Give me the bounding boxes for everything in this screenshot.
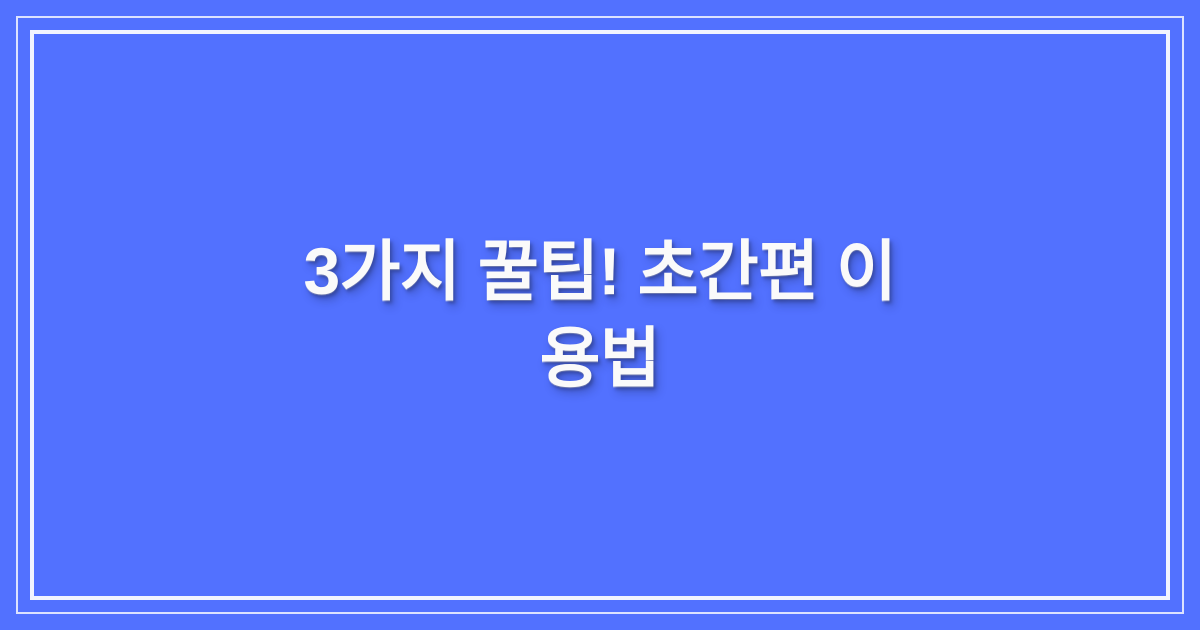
thumbnail-banner: 3가지 꿀팁! 초간편 이용법 bbox=[0, 0, 1200, 630]
headline-container: 3가지 꿀팁! 초간편 이용법 bbox=[0, 0, 1200, 630]
banner-headline: 3가지 꿀팁! 초간편 이용법 bbox=[290, 228, 910, 402]
